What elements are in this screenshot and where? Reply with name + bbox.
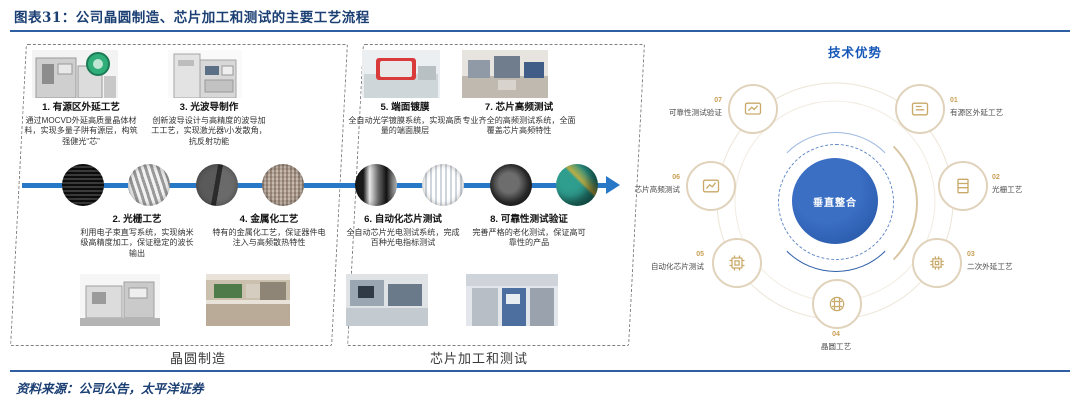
wheel-node-02[interactable] <box>938 161 988 211</box>
wheel-node-label-06: 06 芯片高频测试 <box>610 173 680 195</box>
step-block-8: 8. 可靠性测试验证 完善严格的老化测试，保证高可靠性的产品 <box>470 214 588 249</box>
step-block-1: 1. 有源区外延工艺 通过MOCVD外延高质量晶体材料，实现多量子阱有源层，构筑… <box>22 102 140 147</box>
step-title-4: 4. 金属化工艺 <box>210 214 328 227</box>
wheel-node-num-03: 03 <box>967 250 1013 261</box>
step-desc-3: 创新波导设计与高精度的波导加工工艺，实现激光器\小发散角，抗反射功能 <box>150 116 268 148</box>
wheel-node-label-02: 02 光栅工艺 <box>992 173 1022 195</box>
group-label-wafer: 晶圆制造 <box>170 348 226 367</box>
wheel-node-name-05: 自动化芯片测试 <box>624 261 704 272</box>
wafer-icon <box>827 294 847 314</box>
step-desc-7: 专业齐全的高频测试系统，全面覆盖芯片高频特性 <box>460 116 578 137</box>
photo-step-3 <box>168 50 242 98</box>
step-desc-5: 全自动光学镀膜系统，实现高质量的端面膜层 <box>346 116 464 137</box>
wafer-disc-8 <box>556 164 598 206</box>
source-note: 资料来源：公司公告，太平洋证券 <box>16 378 204 397</box>
photo-step-6 <box>346 274 428 326</box>
wheel-node-name-06: 芯片高频测试 <box>610 184 680 195</box>
chart-icon <box>701 176 721 196</box>
photo-step-2 <box>80 274 160 326</box>
wafer-disc-3 <box>196 164 238 206</box>
step-block-6: 6. 自动化芯片测试 全自动芯片光电测试系统，完成百种光电指标测试 <box>344 214 462 249</box>
wheel-node-name-03: 二次外延工艺 <box>967 261 1013 272</box>
step-desc-8: 完善严格的老化测试，保证高可靠性的产品 <box>470 228 588 249</box>
wafer-disc-6 <box>422 164 464 206</box>
grating-icon <box>953 176 973 196</box>
step-title-5: 5. 端面镀膜 <box>346 102 464 115</box>
wheel-node-label-04: 04 晶圆工艺 <box>790 330 882 352</box>
wheel-node-05[interactable] <box>712 238 762 288</box>
step-block-5: 5. 端面镀膜 全自动光学镀膜系统，实现高质量的端面膜层 <box>346 102 464 137</box>
step-block-7: 7. 芯片高频测试 专业齐全的高频测试系统，全面覆盖芯片高频特性 <box>460 102 578 137</box>
wheel-node-06[interactable] <box>686 161 736 211</box>
step-desc-4: 特有的金属化工艺，保证器件电注入与高频散热特性 <box>210 228 328 249</box>
step-block-2: 2. 光栅工艺 利用电子束直写系统，实现纳米级高精度加工，保证稳定的波长输出 <box>78 214 196 259</box>
step-title-1: 1. 有源区外延工艺 <box>22 102 140 115</box>
figure-page: 图表31：公司晶圆制造、芯片加工和测试的主要工艺流程 <box>0 0 1080 401</box>
wheel-node-01[interactable] <box>895 84 945 134</box>
wafer-disc-7 <box>490 164 532 206</box>
header-divider <box>10 30 1070 32</box>
step-block-3: 3. 光波导制作 创新波导设计与高精度的波导加工工艺，实现激光器\小发散角，抗反… <box>150 102 268 147</box>
wheel-node-label-05: 05 自动化芯片测试 <box>624 250 704 272</box>
photo-step-5 <box>362 50 440 98</box>
wheel-node-num-05: 05 <box>624 250 704 261</box>
step-title-6: 6. 自动化芯片测试 <box>344 214 462 227</box>
monitor-icon <box>743 99 763 119</box>
wheel-node-name-01: 有源区外延工艺 <box>950 107 1003 118</box>
wheel-node-03[interactable] <box>912 238 962 288</box>
wheel-node-04[interactable] <box>812 279 862 329</box>
cpu-icon <box>927 253 947 273</box>
step-title-8: 8. 可靠性测试验证 <box>470 214 588 227</box>
wafer-disc-4 <box>262 164 304 206</box>
step-title-7: 7. 芯片高频测试 <box>460 102 578 115</box>
wafer-disc-1 <box>62 164 104 206</box>
wheel-node-label-07: 07 可靠性测试验证 <box>636 96 722 118</box>
wheel-node-num-01: 01 <box>950 96 1003 107</box>
process-flow-diagram: 1. 有源区外延工艺 通过MOCVD外延高质量晶体材料，实现多量子阱有源层，构筑… <box>10 36 650 366</box>
photo-step-7 <box>462 50 548 98</box>
group-label-chip: 芯片加工和测试 <box>430 348 528 367</box>
wheel-node-num-04: 04 <box>790 330 882 341</box>
chip-layers-icon <box>910 99 930 119</box>
step-desc-6: 全自动芯片光电测试系统，完成百种光电指标测试 <box>344 228 462 249</box>
photo-step-4 <box>206 274 290 326</box>
step-desc-1: 通过MOCVD外延高质量晶体材料，实现多量子阱有源层，构筑强健光“芯” <box>22 116 140 148</box>
wheel-node-name-04: 晶圆工艺 <box>790 341 882 352</box>
wheel-node-name-07: 可靠性测试验证 <box>636 107 722 118</box>
wheel-center-hub: 垂直整合 <box>792 158 878 244</box>
photo-step-1 <box>32 50 118 98</box>
wafer-disc-5 <box>355 164 397 206</box>
tech-advantage-wheel: 技术优势 垂直整合 01 有源区外延工艺 02 光栅工艺 <box>640 36 1070 366</box>
step-block-4: 4. 金属化工艺 特有的金属化工艺，保证器件电注入与高频散热特性 <box>210 214 328 249</box>
wheel-node-07[interactable] <box>728 84 778 134</box>
processor-icon <box>727 253 747 273</box>
step-title-3: 3. 光波导制作 <box>150 102 268 115</box>
wheel-node-label-01: 01 有源区外延工艺 <box>950 96 1003 118</box>
wheel-node-num-02: 02 <box>992 173 1022 184</box>
wheel-node-num-06: 06 <box>610 173 680 184</box>
wheel-node-label-03: 03 二次外延工艺 <box>967 250 1013 272</box>
wheel-node-name-02: 光栅工艺 <box>992 184 1022 195</box>
step-desc-2: 利用电子束直写系统，实现纳米级高精度加工，保证稳定的波长输出 <box>78 228 196 260</box>
step-title-2: 2. 光栅工艺 <box>78 214 196 227</box>
photo-step-8 <box>466 274 558 326</box>
footer-divider <box>10 370 1070 372</box>
wheel-node-num-07: 07 <box>636 96 722 107</box>
page-title: 图表31：公司晶圆制造、芯片加工和测试的主要工艺流程 <box>14 6 370 26</box>
wafer-disc-2 <box>128 164 170 206</box>
